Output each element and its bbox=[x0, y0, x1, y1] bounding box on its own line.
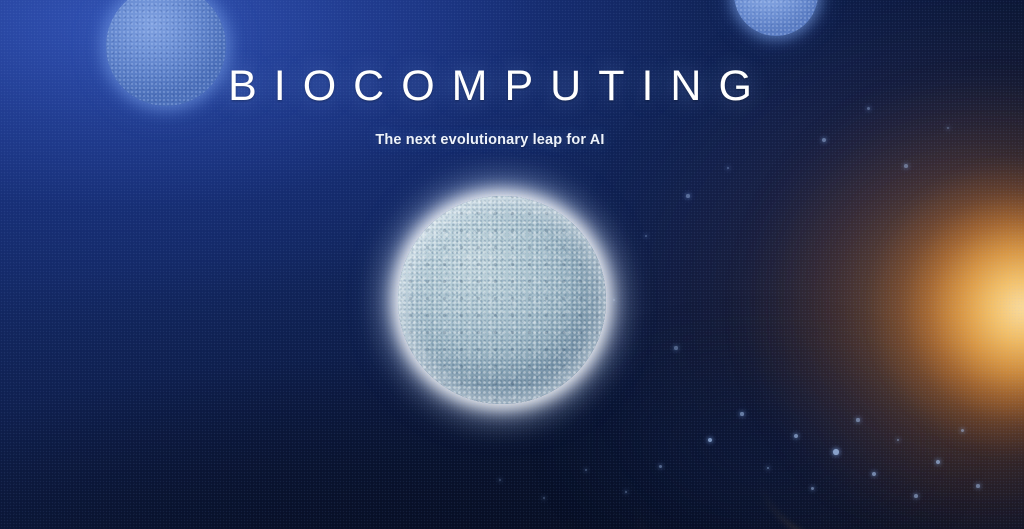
sparkle-particle bbox=[794, 434, 798, 438]
light-streak bbox=[832, 372, 1024, 529]
light-streak bbox=[755, 363, 1024, 529]
light-ray bbox=[1019, 228, 1024, 308]
sparkle-particle bbox=[659, 465, 662, 468]
sparkle-particle bbox=[674, 346, 677, 349]
sparkle-particle bbox=[708, 438, 713, 443]
sparkle-particle bbox=[625, 491, 628, 494]
cell-body bbox=[734, 0, 818, 36]
cell-body bbox=[398, 196, 606, 404]
sparkle-particle bbox=[904, 164, 908, 168]
sparkle-particle bbox=[740, 412, 743, 415]
sparkle-particle bbox=[811, 487, 814, 490]
page-title: BIOCOMPUTING bbox=[0, 64, 980, 110]
light-ray bbox=[1012, 304, 1024, 321]
light-ray bbox=[1014, 304, 1024, 355]
sparkle-particle bbox=[585, 469, 588, 472]
sparkle-particle bbox=[686, 194, 689, 197]
sparkle-particle bbox=[936, 460, 940, 464]
sparkle-particle bbox=[914, 494, 918, 498]
light-ray bbox=[1014, 267, 1024, 306]
burst-core bbox=[868, 158, 1024, 458]
sparkle-particle bbox=[645, 235, 648, 238]
sparkle-particle bbox=[856, 418, 859, 421]
sparkle-particle bbox=[543, 497, 545, 499]
cell-texture bbox=[734, 0, 818, 36]
sparkle-particle bbox=[833, 449, 838, 454]
sparkle-particle bbox=[976, 484, 980, 488]
sparkle-particle bbox=[897, 439, 900, 442]
sparkle-particle bbox=[961, 429, 964, 432]
light-ray bbox=[1017, 304, 1024, 371]
page-subtitle: The next evolutionary leap for AI bbox=[0, 132, 980, 148]
sparkle-particle bbox=[872, 472, 876, 476]
background-cell-top-right bbox=[734, 0, 818, 36]
hero-text-block: BIOCOMPUTING The next evolutionary leap … bbox=[0, 64, 980, 148]
sparkle-particle bbox=[727, 167, 730, 170]
light-ray bbox=[1012, 289, 1024, 307]
biocomputing-hero-banner: BIOCOMPUTING The next evolutionary leap … bbox=[0, 0, 1024, 529]
sparkle-particle bbox=[767, 467, 770, 470]
sparkle-particle bbox=[499, 479, 502, 482]
cell-rim-light bbox=[398, 196, 606, 404]
light-streak bbox=[675, 249, 1024, 529]
light-streak bbox=[627, 336, 1024, 529]
main-cell-sphere bbox=[398, 196, 606, 404]
